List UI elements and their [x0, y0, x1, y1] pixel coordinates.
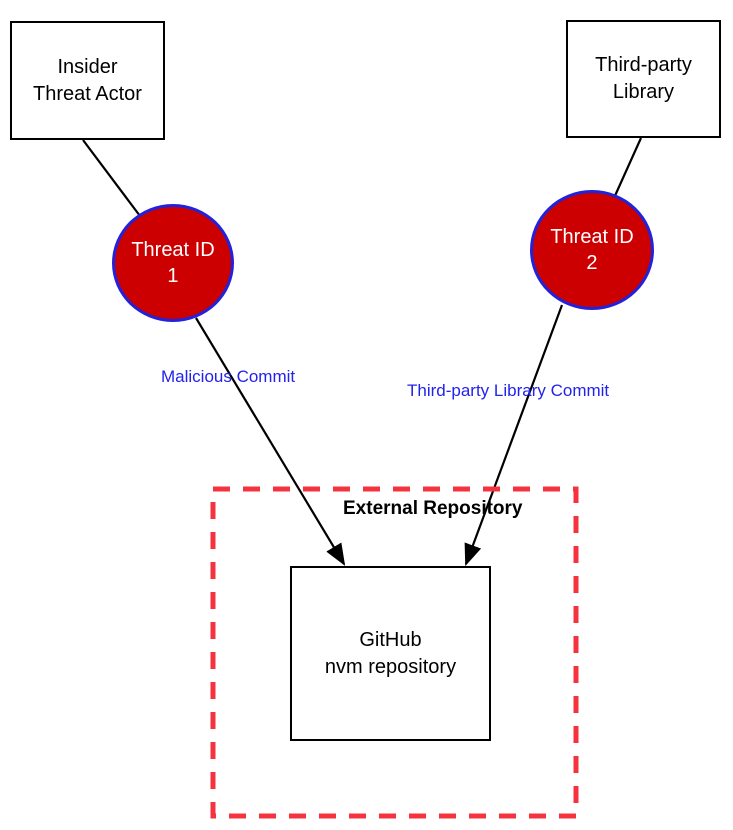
threat-path-diagram: Insider Threat ActorThird-party LibraryT… [0, 0, 733, 830]
edge-label-threat1-to-repo: Malicious Commit [161, 367, 295, 387]
node-insider-threat-actor: Insider Threat Actor [10, 21, 165, 140]
edge-label-threat2-to-repo: Third-party Library Commit [407, 381, 609, 401]
group-title-external-repository: External Repository [343, 498, 523, 520]
node-github-nvm-repository: GitHub nvm repository [290, 566, 491, 741]
node-threat-id-1: Threat ID 1 [112, 204, 234, 322]
node-third-party-library: Third-party Library [566, 20, 721, 138]
edge-insider-to-threat1 [83, 140, 140, 216]
edge-threat2-to-repo [466, 305, 562, 564]
edge-threat1-to-repo [196, 318, 344, 564]
node-threat-id-2: Threat ID 2 [530, 190, 654, 310]
edge-library-to-threat2 [614, 138, 641, 198]
